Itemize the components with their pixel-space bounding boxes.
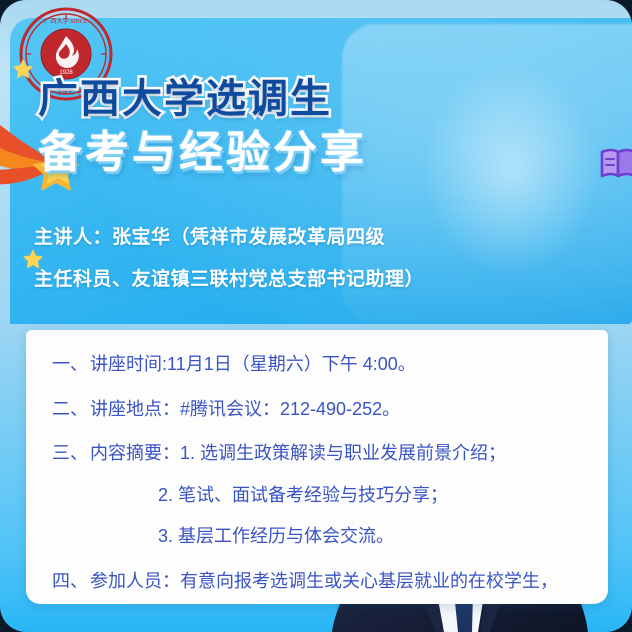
svg-text:1928: 1928 — [59, 70, 73, 76]
detail-index-1: 一、 — [52, 352, 90, 378]
detail-label-3: 内容摘要： — [90, 443, 180, 463]
detail-value-2: #腾讯会议：212-490-252。 — [180, 399, 400, 419]
title-block: 广西大学选调生 备考与经验分享 — [38, 78, 367, 177]
speaker-line-1: 主讲人：张宝华（凭祥市发展改革局四级 — [34, 228, 454, 247]
detail-row-time: 一、 讲座时间:11月1日（星期六）下午 4:00。 — [52, 352, 594, 378]
star-icon-top — [12, 58, 34, 80]
poster-frame: 广西大学 SINCE 广 西 大 学 1928 — [0, 0, 632, 632]
detail-text-3: 内容摘要：1. 选调生政策解读与职业发展前景介绍； — [90, 441, 594, 467]
detail-label-1: 讲座时间: — [90, 354, 167, 374]
detail-label-2: 讲座地点： — [90, 399, 180, 419]
detail-text-4: 参加人员：有意向报考选调生或关心基层就业的在校学生， — [90, 569, 594, 595]
detail-row-agenda: 三、 内容摘要：1. 选调生政策解读与职业发展前景介绍； — [52, 441, 594, 467]
agenda-item-3: 3. 基层工作经历与体会交流。 — [158, 524, 594, 550]
detail-index-3: 三、 — [52, 441, 90, 467]
details-card: 一、 讲座时间:11月1日（星期六）下午 4:00。 二、 讲座地点：#腾讯会议… — [26, 330, 608, 604]
detail-row-agenda-3: 3. 基层工作经历与体会交流。 — [52, 524, 594, 550]
detail-text-2: 讲座地点：#腾讯会议：212-490-252。 — [90, 397, 594, 423]
poster-title-line-1: 广西大学选调生 — [38, 78, 367, 121]
open-book-icon — [598, 144, 632, 184]
detail-index-2: 二、 — [52, 397, 90, 423]
detail-row-agenda-2: 2. 笔试、面试备考经验与技巧分享； — [52, 483, 594, 509]
speaker-line-2: 主任科员、友谊镇三联村党总支部书记助理） — [34, 270, 454, 289]
agenda-item-2: 2. 笔试、面试备考经验与技巧分享； — [158, 483, 594, 509]
speaker-info: 主讲人：张宝华（凭祥市发展改革局四级 主任科员、友谊镇三联村党总支部书记助理） — [34, 228, 454, 289]
details-rows: 一、 讲座时间:11月1日（星期六）下午 4:00。 二、 讲座地点：#腾讯会议… — [52, 352, 594, 604]
poster-root: 广西大学 SINCE 广 西 大 学 1928 — [0, 0, 632, 632]
detail-row-audience: 四、 参加人员：有意向报考选调生或关心基层就业的在校学生， — [52, 569, 594, 595]
detail-value-1: 11月1日（星期六）下午 4:00。 — [167, 354, 416, 374]
detail-row-location: 二、 讲座地点：#腾讯会议：212-490-252。 — [52, 397, 594, 423]
detail-text-1: 讲座时间:11月1日（星期六）下午 4:00。 — [90, 352, 594, 378]
poster-title-line-2: 备考与经验分享 — [38, 129, 367, 177]
audience-line-1: 有意向报考选调生或关心基层就业的在校学生， — [180, 571, 558, 591]
agenda-item-1: 1. 选调生政策解读与职业发展前景介绍； — [180, 443, 506, 463]
agenda-list: 1. 选调生政策解读与职业发展前景介绍； — [180, 443, 506, 463]
detail-label-4: 参加人员： — [90, 571, 180, 591]
detail-index-4: 四、 — [52, 569, 90, 595]
